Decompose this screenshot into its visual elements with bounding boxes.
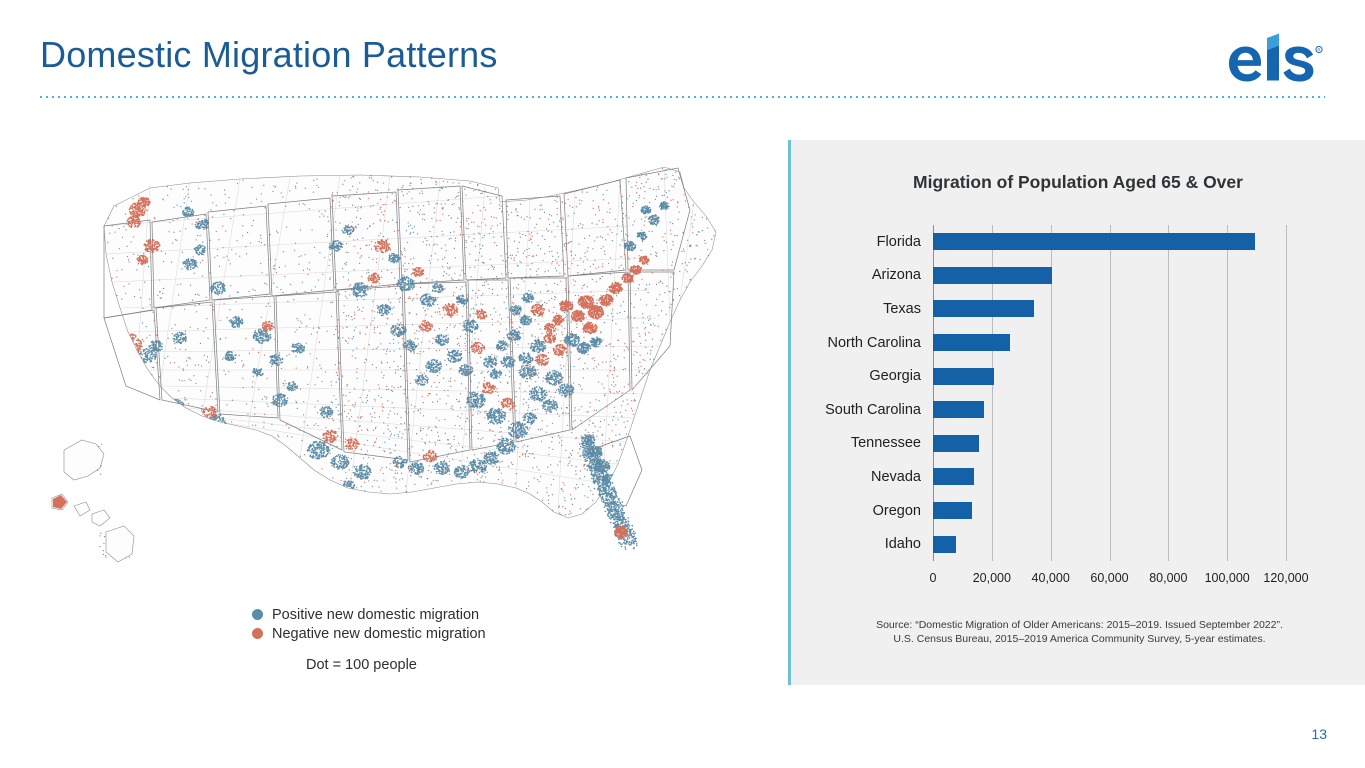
- chart-bar: [933, 233, 1255, 250]
- slide-header: Domestic Migration Patterns R: [0, 0, 1365, 110]
- united-states-dot-density-map: [30, 150, 770, 600]
- legend-item-negative-label: Negative new domestic migration: [272, 626, 486, 642]
- bar-chart: FloridaArizonaTexasNorth CarolinaGeorgia…: [791, 225, 1365, 595]
- legend-dot-scale-note: Dot = 100 people: [306, 657, 672, 673]
- chart-bar-row: Arizona: [791, 259, 1365, 293]
- els-logo: R: [1225, 33, 1325, 85]
- map-inset-alaska: [64, 440, 104, 480]
- chart-bar-row: South Carolina: [791, 393, 1365, 427]
- chart-bar-row: Texas: [791, 292, 1365, 326]
- chart-x-tick-label: 80,000: [1149, 571, 1187, 585]
- chart-bar: [933, 536, 956, 553]
- chart-bar: [933, 267, 1052, 284]
- chart-x-tick-label: 0: [930, 571, 937, 585]
- chart-bar: [933, 435, 979, 452]
- chart-category-label: South Carolina: [825, 402, 921, 418]
- page-title: Domestic Migration Patterns: [40, 34, 498, 76]
- chart-bar-row: North Carolina: [791, 326, 1365, 360]
- chart-bar: [933, 368, 994, 385]
- chart-source-line-1: Source: “Domestic Migration of Older Ame…: [831, 618, 1328, 632]
- chart-bar-row: Georgia: [791, 359, 1365, 393]
- els-logo-letter-e: [1229, 47, 1261, 82]
- chart-bar: [933, 334, 1010, 351]
- page-number: 13: [1311, 726, 1327, 742]
- chart-category-label: Idaho: [885, 536, 921, 552]
- chart-category-label: Oregon: [873, 503, 921, 519]
- els-logo-letter-s: [1284, 47, 1314, 82]
- chart-x-tick-label: 20,000: [973, 571, 1011, 585]
- chart-plot-area: FloridaArizonaTexasNorth CarolinaGeorgia…: [791, 225, 1365, 595]
- chart-category-label: Georgia: [869, 368, 921, 384]
- chart-bar: [933, 502, 972, 519]
- chart-category-label: Texas: [883, 301, 921, 317]
- els-logo-letter-l-stem: [1267, 46, 1279, 81]
- chart-x-tick-label: 120,000: [1263, 571, 1308, 585]
- map-panel: Positive new domestic migration Negative…: [30, 150, 770, 680]
- chart-x-tick-label: 100,000: [1205, 571, 1250, 585]
- negative-migration-dot-icon: [252, 628, 263, 639]
- chart-bar-row: Nevada: [791, 460, 1365, 494]
- chart-x-tick-label: 40,000: [1032, 571, 1070, 585]
- chart-bar-row: Tennessee: [791, 427, 1365, 461]
- positive-migration-dot-icon: [252, 609, 263, 620]
- chart-bar-row: Oregon: [791, 494, 1365, 528]
- legend-item-positive: Positive new domestic migration: [252, 605, 672, 624]
- chart-title: Migration of Population Aged 65 & Over: [791, 172, 1365, 193]
- map-legend: Positive new domestic migration Negative…: [252, 605, 672, 673]
- chart-panel: Migration of Population Aged 65 & Over F…: [788, 140, 1365, 685]
- chart-bar-row: Idaho: [791, 527, 1365, 561]
- chart-category-label: Tennessee: [851, 435, 921, 451]
- chart-category-label: Arizona: [872, 267, 921, 283]
- chart-category-label: Florida: [877, 234, 921, 250]
- title-divider: [40, 96, 1325, 98]
- chart-source-line-2: U.S. Census Bureau, 2015–2019 America Co…: [831, 632, 1328, 646]
- chart-category-label: Nevada: [871, 469, 921, 485]
- legend-item-negative: Negative new domestic migration: [252, 624, 672, 643]
- chart-source-note: Source: “Domestic Migration of Older Ame…: [831, 618, 1328, 646]
- chart-category-label: North Carolina: [828, 335, 922, 351]
- svg-text:R: R: [1317, 48, 1320, 53]
- chart-bar: [933, 300, 1034, 317]
- chart-bar: [933, 401, 984, 418]
- chart-bar: [933, 468, 974, 485]
- legend-item-positive-label: Positive new domestic migration: [272, 607, 479, 623]
- chart-bar-row: Florida: [791, 225, 1365, 259]
- chart-x-tick-label: 60,000: [1090, 571, 1128, 585]
